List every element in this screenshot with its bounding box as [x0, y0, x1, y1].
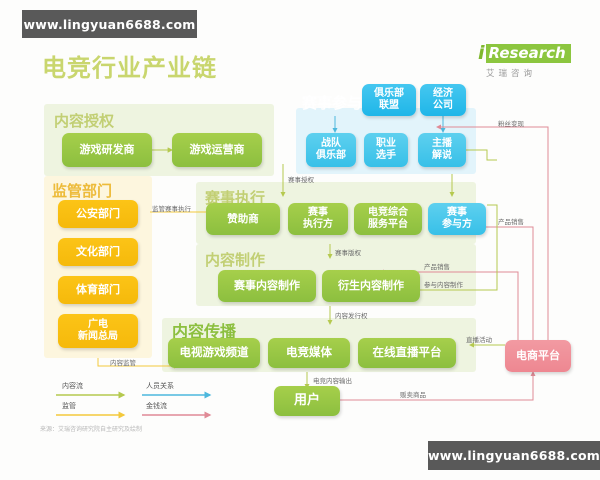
box-label: 公安部门: [76, 208, 120, 221]
box-event-content-production[interactable]: 赛事内容制作: [218, 270, 316, 302]
flow-label-regulate-event: 监管赛事执行: [152, 203, 191, 213]
legend-label-2: 监管: [62, 401, 76, 411]
legend-arrow-1: [142, 391, 220, 399]
box-label: 广电 新闻总局: [78, 319, 118, 343]
box-label: 电竞媒体: [286, 346, 332, 360]
legend-arrow-0: [56, 391, 134, 399]
flow-label-product-sales-participant: 产品销售: [498, 216, 524, 226]
box-label: 赞助商: [227, 213, 259, 225]
legend-arrow-2: [56, 411, 134, 419]
flow-label-event-auth: 赛事授权: [288, 174, 314, 184]
box-event-participant[interactable]: 赛事 参与方: [428, 203, 486, 235]
box-label: 衍生内容制作: [338, 280, 404, 293]
legend-label-1: 人员关系: [146, 381, 174, 391]
source-note: 来源：艾瑞咨询研究院自主研究及绘制: [40, 424, 142, 433]
flow-label-product-sales-content: 产品销售: [424, 261, 450, 271]
box-label: 电视游戏频道: [180, 346, 249, 360]
box-label: 游戏研发商: [80, 144, 135, 157]
box-label: 文化部门: [76, 246, 120, 259]
box-label: 电商平台: [516, 350, 560, 363]
box-game-operator[interactable]: 游戏运营商: [172, 133, 262, 167]
box-club-alliance[interactable]: 俱乐部 联盟: [362, 84, 416, 116]
box-label: 俱乐部 联盟: [374, 88, 404, 112]
flow-label-live-activity: 直播活动: [466, 334, 492, 344]
box-esports-media[interactable]: 电竞媒体: [268, 338, 350, 368]
box-label: 赛事 参与方: [442, 207, 472, 231]
box-label: 游戏运营商: [190, 144, 245, 157]
box-team-club[interactable]: 战队 俱乐部: [306, 133, 356, 167]
box-label: 赛事 执行方: [303, 207, 333, 231]
box-public-security-dept[interactable]: 公安部门: [58, 200, 138, 228]
legend-arrow-3: [142, 411, 220, 419]
box-sports-dept[interactable]: 体育部门: [58, 276, 138, 304]
legend-label-0: 内容流: [62, 381, 83, 391]
flow-label-content-publish: 内容发行权: [335, 310, 368, 320]
box-sarft[interactable]: 广电 新闻总局: [58, 314, 138, 348]
box-pro-player[interactable]: 职业 选手: [364, 133, 408, 167]
box-game-developer[interactable]: 游戏研发商: [62, 133, 152, 167]
box-label: 经济 公司: [433, 88, 453, 112]
box-label: 战队 俱乐部: [316, 138, 346, 162]
box-derivative-content-production[interactable]: 衍生内容制作: [322, 270, 420, 302]
box-label: 体育部门: [76, 284, 120, 297]
box-user[interactable]: 用户: [274, 386, 340, 416]
legend-label-3: 金钱流: [146, 401, 167, 411]
box-ecommerce-platform[interactable]: 电商平台: [505, 340, 571, 372]
box-label: 在线直播平台: [373, 346, 442, 360]
flow-label-fan-monetize: 粉丝变现: [498, 118, 524, 128]
diagram-canvas: www.lingyuan6688.com www.lingyuan6688.co…: [0, 0, 600, 480]
flow-label-sell-goods: 贩卖商品: [400, 389, 426, 399]
flow-label-event-copyright: 赛事版权: [335, 247, 361, 257]
legend: 内容流 人员关系 监管 金钱流: [46, 381, 246, 421]
box-event-operator[interactable]: 赛事 执行方: [288, 203, 348, 235]
box-label: 职业 选手: [376, 138, 396, 162]
flow-label-esports-output: 电竞内容输出: [313, 375, 352, 385]
box-label: 电竞综合 服务平台: [368, 207, 408, 231]
flow-label-join-production: 参与内容制作: [424, 279, 463, 289]
box-tv-game-channel[interactable]: 电视游戏频道: [168, 338, 260, 368]
flow-label-content-regulate: 内容监管: [110, 357, 136, 367]
box-streamer-caster[interactable]: 主播 解说: [418, 133, 466, 167]
box-live-streaming-platform[interactable]: 在线直播平台: [358, 338, 456, 368]
box-agency-company[interactable]: 经济 公司: [420, 84, 466, 116]
box-esports-service-platform[interactable]: 电竞综合 服务平台: [354, 203, 422, 235]
box-label: 赛事内容制作: [234, 280, 300, 293]
box-sponsor[interactable]: 赞助商: [206, 203, 280, 235]
box-culture-dept[interactable]: 文化部门: [58, 238, 138, 266]
box-label: 主播 解说: [432, 138, 452, 162]
box-label: 用户: [294, 393, 320, 408]
